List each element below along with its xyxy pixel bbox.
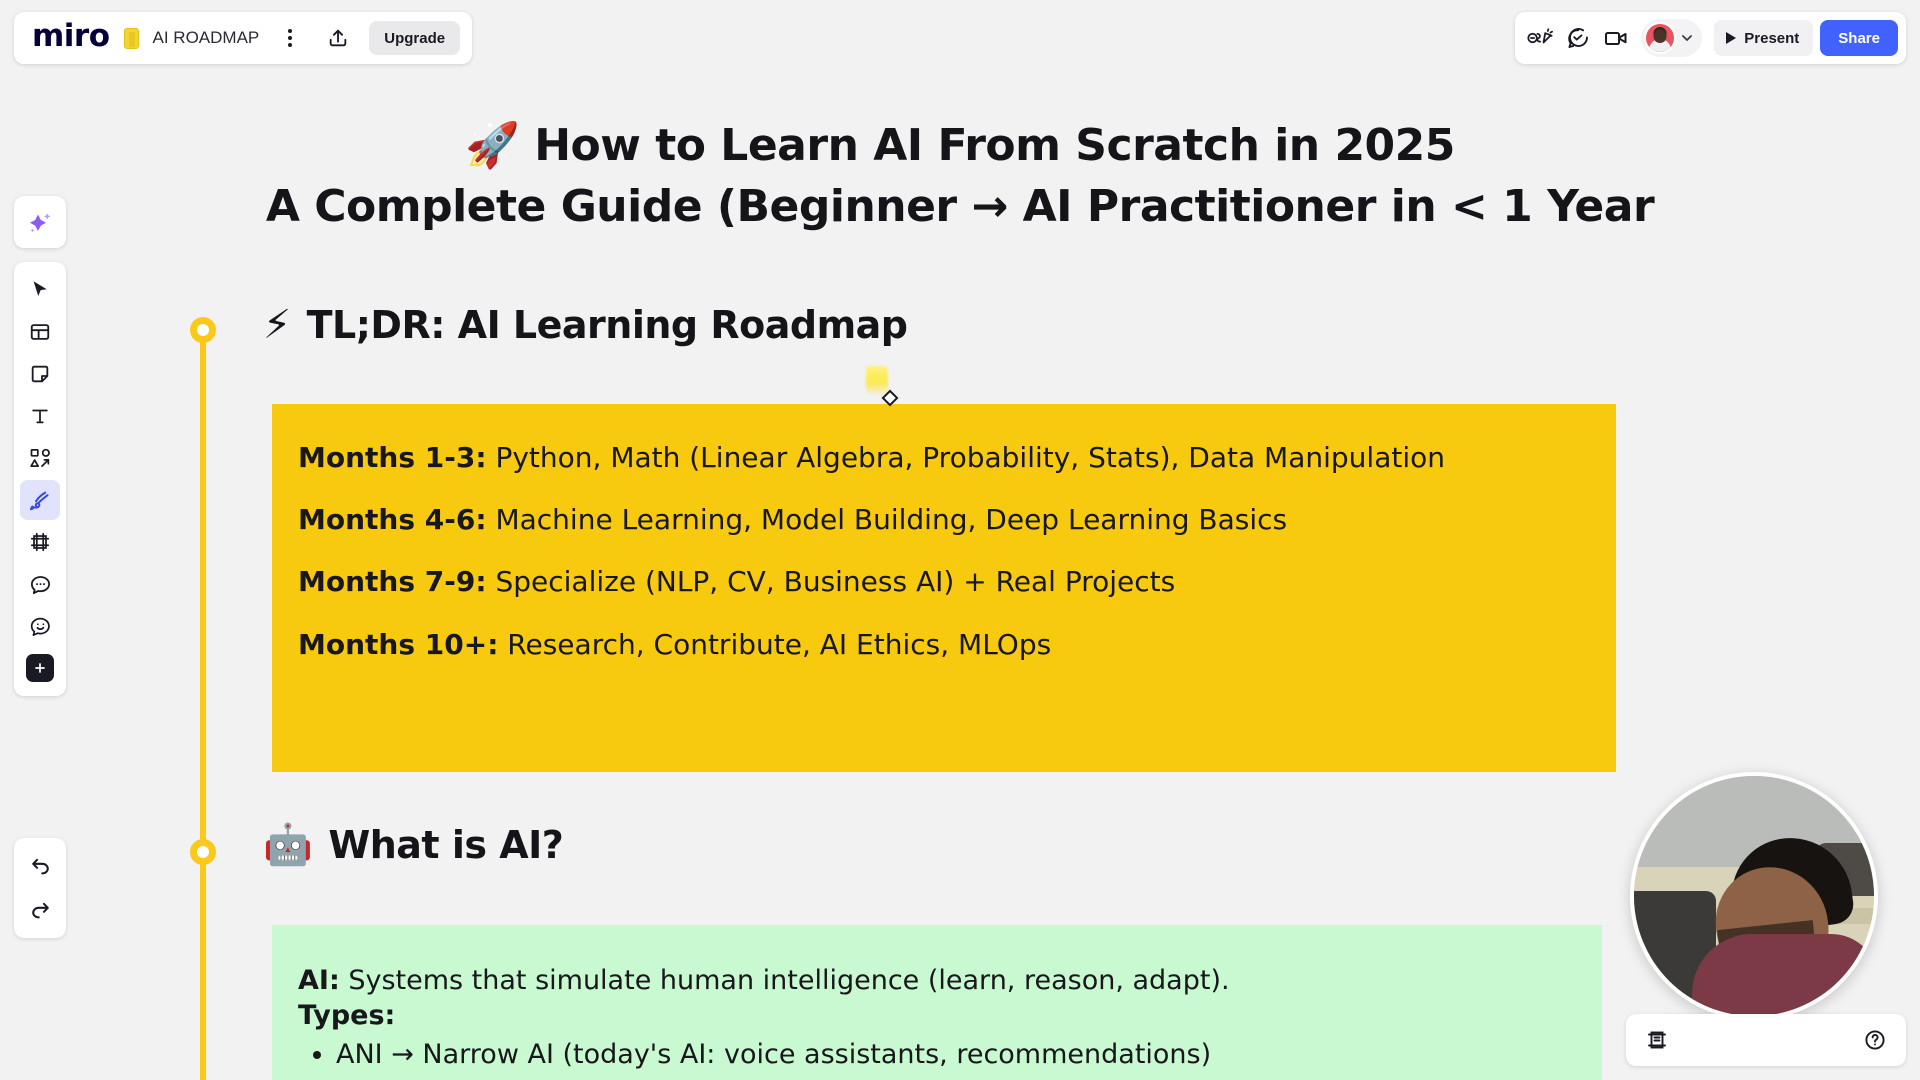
sidebar-item-text[interactable]	[20, 396, 60, 436]
redo-arrow-icon	[29, 899, 52, 922]
roadmap-row: Months 10+: Research, Contribute, AI Eth…	[298, 629, 1590, 661]
timeline-node-2[interactable]	[190, 839, 216, 865]
sidebar-item-shapes[interactable]	[20, 438, 60, 478]
roadmap-row-label: Months 4-6:	[298, 503, 487, 536]
help-question-icon[interactable]	[1858, 1023, 1892, 1057]
board-title-text-1: How to Learn AI From Scratch in 2025	[534, 120, 1455, 171]
board-title-line-2: A Complete Guide (Beginner → AI Practiti…	[0, 181, 1920, 234]
lightning-bolt-icon: ⚡	[263, 305, 291, 345]
avatar	[1644, 22, 1676, 54]
roadmap-row-text: Python, Math (Linear Algebra, Probabilit…	[487, 441, 1445, 474]
definition-body: AI: Systems that simulate human intellig…	[298, 963, 1576, 1072]
undo-button[interactable]	[20, 846, 60, 886]
webcam-person-body	[1692, 934, 1878, 1020]
sticky-note-icon	[124, 28, 139, 49]
sticker-smiley-icon	[29, 615, 52, 638]
bottom-right-toolbar	[1626, 1014, 1906, 1066]
chat-bubble-icon[interactable]	[1561, 21, 1595, 55]
top-right-toolbar: Present Share	[1515, 12, 1906, 64]
roadmap-row: Months 7-9: Specialize (NLP, CV, Busines…	[298, 566, 1590, 598]
roadmap-row-label: Months 1-3:	[298, 441, 487, 474]
left-toolbar	[14, 262, 66, 696]
video-camera-icon[interactable]	[1599, 21, 1633, 55]
present-label: Present	[1744, 30, 1799, 47]
definition-line: AI: Systems that simulate human intellig…	[298, 963, 1576, 998]
template-layout-icon	[29, 321, 51, 343]
section-heading-what-is-ai-label: What is AI?	[328, 823, 563, 867]
history-toolbar	[14, 838, 66, 938]
section-heading-tldr[interactable]: ⚡ TL;DR: AI Learning Roadmap	[263, 303, 908, 347]
roadmap-card-yellow[interactable]: Months 1-3: Python, Math (Linear Algebra…	[272, 404, 1616, 772]
sidebar-item-ai-assist[interactable]	[14, 196, 66, 248]
pen-marker-icon	[28, 488, 52, 512]
roadmap-row-label: Months 7-9:	[298, 565, 487, 598]
highlighter-stroke-cursor	[866, 366, 888, 396]
presenter-webcam-bubble[interactable]	[1630, 772, 1878, 1020]
roadmap-row-text: Machine Learning, Model Building, Deep L…	[487, 503, 1288, 536]
definition-label: AI:	[298, 965, 340, 996]
present-button[interactable]: Present	[1714, 20, 1813, 56]
section-heading-what-is-ai[interactable]: 🤖 What is AI?	[263, 823, 563, 867]
sidebar-item-templates[interactable]	[20, 312, 60, 352]
sidebar-item-more-apps[interactable]	[20, 648, 60, 688]
types-label-line: Types:	[298, 998, 1576, 1033]
sparkles-icon	[27, 209, 53, 235]
upload-icon[interactable]	[321, 21, 355, 55]
top-left-toolbar: miro AI ROADMAP Upgrade	[14, 12, 472, 64]
sidebar-item-frame[interactable]	[20, 522, 60, 562]
roadmap-row-text: Research, Contribute, AI Ethics, MLOps	[498, 628, 1051, 661]
frames-panel-icon[interactable]	[1640, 1023, 1674, 1057]
sidebar-item-pen[interactable]	[20, 480, 60, 520]
more-options-icon[interactable]	[273, 21, 307, 55]
definition-text: Systems that simulate human intelligence…	[340, 965, 1230, 996]
roadmap-row: Months 1-3: Python, Math (Linear Algebra…	[298, 442, 1590, 474]
cursor-arrow-icon	[29, 279, 51, 301]
definition-card-green[interactable]: AI: Systems that simulate human intellig…	[272, 925, 1602, 1080]
timeline-node-1[interactable]	[190, 317, 216, 343]
comment-bubble-icon	[29, 573, 52, 596]
frame-icon	[29, 531, 51, 553]
board-name-label[interactable]: AI ROADMAP	[153, 28, 260, 48]
timeline-connector	[200, 330, 206, 1080]
text-T-icon	[29, 405, 51, 427]
share-button[interactable]: Share	[1820, 20, 1898, 56]
sidebar-item-reaction[interactable]	[20, 606, 60, 646]
sidebar-item-sticky-note[interactable]	[20, 354, 60, 394]
chevron-down-icon	[1676, 27, 1698, 49]
miro-logo[interactable]: miro	[32, 21, 110, 55]
more-options-dots	[288, 29, 292, 47]
party-popper-icon[interactable]	[1523, 21, 1557, 55]
types-list: ANI → Narrow AI (today's AI: voice assis…	[298, 1037, 1576, 1072]
user-avatar-menu[interactable]	[1641, 19, 1702, 57]
section-heading-tldr-label: TL;DR: AI Learning Roadmap	[307, 303, 908, 347]
types-label: Types:	[298, 1000, 395, 1031]
plus-square-icon	[26, 654, 54, 682]
sticky-note-icon	[29, 363, 51, 385]
undo-arrow-icon	[29, 855, 52, 878]
roadmap-row-label: Months 10+:	[298, 628, 498, 661]
redo-button[interactable]	[20, 890, 60, 930]
play-icon	[1726, 32, 1736, 44]
roadmap-row-text: Specialize (NLP, CV, Business AI) + Real…	[487, 565, 1176, 598]
board-title-line-1: 🚀 How to Learn AI From Scratch in 2025	[0, 120, 1920, 173]
board-title-block[interactable]: 🚀 How to Learn AI From Scratch in 2025 A…	[0, 120, 1920, 234]
shapes-icon	[29, 447, 52, 470]
sidebar-item-select[interactable]	[20, 270, 60, 310]
robot-icon: 🤖	[263, 825, 312, 865]
sidebar-item-comment[interactable]	[20, 564, 60, 604]
list-item: ANI → Narrow AI (today's AI: voice assis…	[336, 1037, 1576, 1072]
miro-app-window: 🚀 How to Learn AI From Scratch in 2025 A…	[0, 0, 1920, 1080]
roadmap-row: Months 4-6: Machine Learning, Model Buil…	[298, 504, 1590, 536]
rocket-icon: 🚀	[465, 120, 519, 171]
upgrade-button[interactable]: Upgrade	[369, 21, 460, 55]
